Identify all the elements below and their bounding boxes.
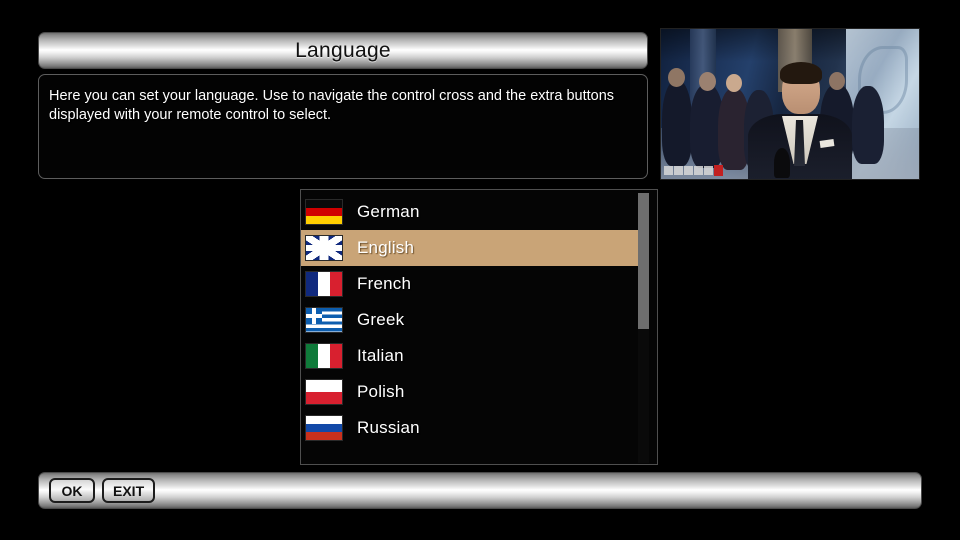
list-item-label: English	[357, 238, 414, 258]
list-item-french[interactable]: French	[301, 266, 641, 302]
language-list-panel[interactable]: German English French Greek Italian Poli	[300, 189, 658, 465]
flag-ru-icon	[305, 415, 343, 441]
language-list: German English French Greek Italian Poli	[301, 194, 641, 446]
list-item-polish[interactable]: Polish	[301, 374, 641, 410]
page-title: Language	[295, 39, 391, 63]
list-item-label: German	[357, 202, 420, 222]
list-item-german[interactable]: German	[301, 194, 641, 230]
flag-fr-icon	[305, 271, 343, 297]
list-item-label: Polish	[357, 382, 405, 402]
exit-button[interactable]: EXIT	[102, 478, 155, 503]
description-text: Here you can set your language. Use to n…	[49, 87, 637, 125]
list-item-russian[interactable]: Russian	[301, 410, 641, 446]
flag-gr-icon	[305, 307, 343, 333]
video-preview[interactable]	[660, 28, 920, 180]
description-panel: Here you can set your language. Use to n…	[38, 74, 648, 179]
softkey-bar: OK EXIT	[38, 472, 922, 509]
flag-pl-icon	[305, 379, 343, 405]
ok-button[interactable]: OK	[49, 478, 95, 503]
menu-title-bar: Language	[38, 32, 648, 69]
list-item-italian[interactable]: Italian	[301, 338, 641, 374]
flag-gb-icon	[305, 235, 343, 261]
list-scrollbar[interactable]	[638, 193, 649, 463]
list-item-label: French	[357, 274, 411, 294]
list-item-label: Greek	[357, 310, 404, 330]
tv-menu-screen: Language Here you can set your language.…	[0, 0, 960, 540]
flag-it-icon	[305, 343, 343, 369]
list-item-label: Italian	[357, 346, 404, 366]
list-scrollbar-thumb[interactable]	[638, 193, 649, 329]
list-item-label: Russian	[357, 418, 420, 438]
video-preview-border	[660, 28, 920, 180]
flag-de-icon	[305, 199, 343, 225]
list-item-greek[interactable]: Greek	[301, 302, 641, 338]
list-item-english[interactable]: English	[301, 230, 642, 266]
